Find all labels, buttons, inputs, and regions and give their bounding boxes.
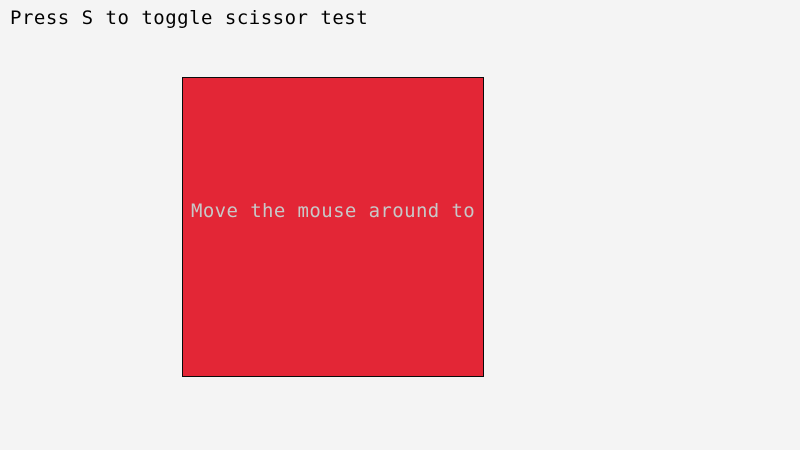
clipped-message-text: Move the mouse around to reveal this tex…: [191, 200, 484, 222]
instruction-label: Press S to toggle scissor test: [10, 7, 368, 29]
raylib-canvas[interactable]: Press S to toggle scissor test Move the …: [0, 0, 800, 450]
scissor-test-rectangle[interactable]: Move the mouse around to reveal this tex…: [182, 77, 484, 377]
